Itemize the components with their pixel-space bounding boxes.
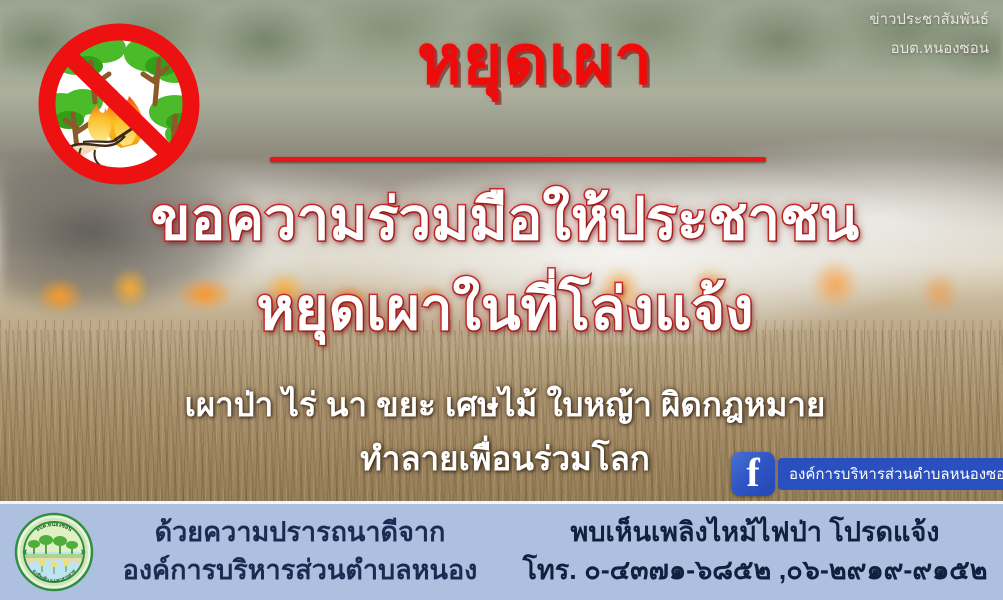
corner-caption: ข่าวประชาสัมพันธ์ อบต.หนองซอน bbox=[769, 6, 989, 63]
subheading-line-2: หยุดเผาในที่โล่งแจ้ง bbox=[60, 278, 950, 342]
facebook-badge[interactable]: องค์การบริหารส่วนตำบลหนองซอน bbox=[731, 452, 1003, 496]
subheading-line-1: ขอความร่วมมือให้ประชาชน bbox=[60, 188, 950, 252]
footer-left-line1: ด้วยความปรารถนาดีจาก bbox=[100, 513, 500, 551]
footer-right-line1: พบเห็นเพลิงไหม้ไฟป่า โปรดแจ้ง bbox=[520, 513, 990, 551]
note-line-1: เผาป่า ไร่ นา ขยะ เศษไม้ ใบหญ้า ผิดกฎหมา… bbox=[60, 386, 950, 424]
footer-left-line2: องค์การบริหารส่วนตำบลหนองซอน bbox=[100, 551, 500, 600]
facebook-icon[interactable] bbox=[731, 452, 775, 496]
nong-son-sao-seal: อบต.หนองซอน อ.เชียงยืน จ.มหาสารคาม bbox=[14, 512, 94, 592]
facebook-page-name[interactable]: องค์การบริหารส่วนตำบลหนองซอน bbox=[778, 458, 1003, 490]
footer-right-text: พบเห็นเพลิงไหม้ไฟป่า โปรดแจ้ง โทร. ๐-๔๓๗… bbox=[520, 513, 990, 590]
footer-bar: อบต.หนองซอน อ.เชียงยืน จ.มหาสารคาม ด้วยค… bbox=[0, 501, 1003, 600]
fire-prevention-poster: ข่าวประชาสัมพันธ์ อบต.หนองซอน bbox=[0, 0, 1003, 600]
page-title: หยุดเผา bbox=[300, 24, 770, 97]
no-open-burning-icon bbox=[25, 16, 213, 192]
corner-caption-line1: ข่าวประชาสัมพันธ์ bbox=[769, 6, 989, 35]
red-divider-rule bbox=[270, 157, 766, 162]
corner-caption-line2: อบต.หนองซอน bbox=[769, 35, 989, 64]
footer-left-text: ด้วยความปรารถนาดีจาก องค์การบริหารส่วนตำ… bbox=[100, 513, 500, 600]
footer-phone-numbers: โทร. ๐-๔๓๗๑-๖๘๕๒ ,๐๖-๒๙๑๙-๙๑๕๒ bbox=[520, 551, 990, 589]
